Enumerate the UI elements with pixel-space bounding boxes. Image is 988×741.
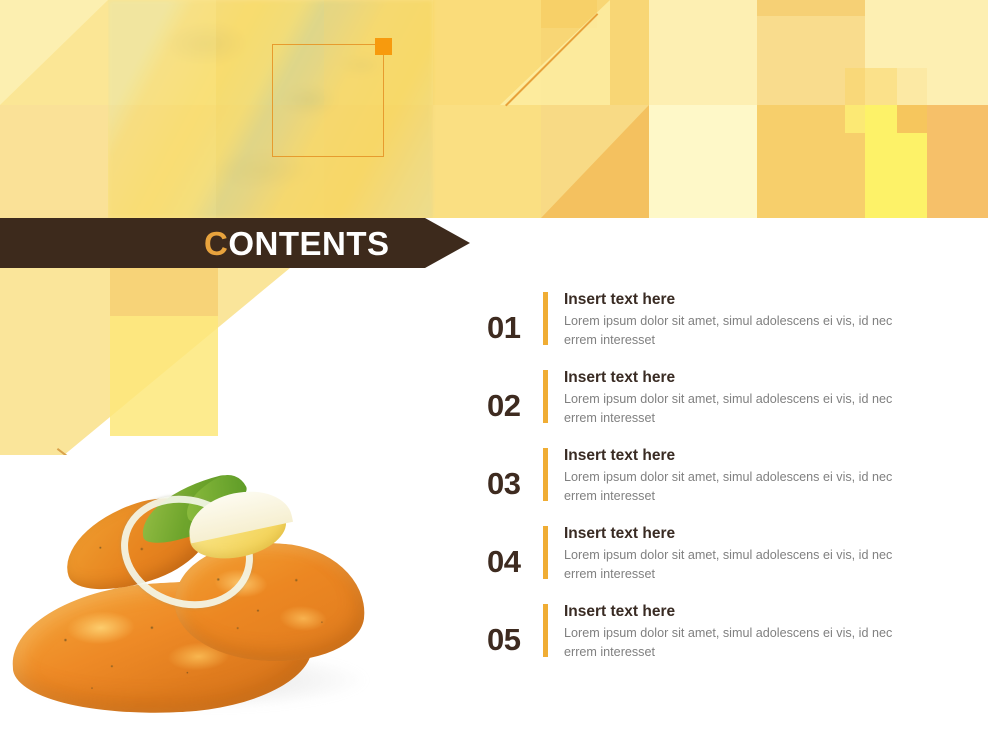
mosaic-tile <box>433 105 541 218</box>
left-square-lower <box>110 316 218 436</box>
mosaic-tile <box>649 105 757 218</box>
mosaic-tile <box>757 0 865 16</box>
mosaic-tile <box>927 105 988 218</box>
list-item-description: Lorem ipsum dolor sit amet, simul adoles… <box>564 390 894 428</box>
slide-canvas: CONTENTS 01 Insert text here Lorem ipsum… <box>0 0 988 741</box>
list-item-accent-bar <box>543 526 548 579</box>
list-item-accent-bar <box>543 448 548 501</box>
mosaic-tile <box>897 105 927 133</box>
list-item-text: Insert text here Lorem ipsum dolor sit a… <box>564 368 917 428</box>
mosaic-tile <box>649 0 757 105</box>
top-mosaic-band <box>0 0 988 218</box>
list-item-accent-bar <box>543 292 548 345</box>
list-item-number: 05 <box>487 602 543 655</box>
mosaic-tile <box>0 105 108 218</box>
list-item-number: 02 <box>487 368 543 421</box>
list-item-title: Insert text here <box>564 446 917 465</box>
list-item-number: 01 <box>487 290 543 343</box>
list-item-title: Insert text here <box>564 602 917 621</box>
solid-square-marker <box>375 38 392 55</box>
list-item[interactable]: 05 Insert text here Lorem ipsum dolor si… <box>487 602 917 680</box>
page-title-rest: ONTENTS <box>228 225 389 262</box>
mosaic-tile <box>845 68 897 105</box>
list-item-text: Insert text here Lorem ipsum dolor sit a… <box>564 524 917 584</box>
list-item-description: Lorem ipsum dolor sit amet, simul adoles… <box>564 546 894 584</box>
left-square-upper <box>110 268 218 316</box>
list-item-title: Insert text here <box>564 524 917 543</box>
list-item-title: Insert text here <box>564 290 917 309</box>
list-item-text: Insert text here Lorem ipsum dolor sit a… <box>564 290 917 350</box>
mosaic-tile-overlay <box>108 105 216 218</box>
list-item-title: Insert text here <box>564 368 917 387</box>
contents-title-bar: CONTENTS <box>0 218 470 268</box>
list-item-accent-bar <box>543 604 548 657</box>
outline-square-marker <box>272 44 384 157</box>
list-item-text: Insert text here Lorem ipsum dolor sit a… <box>564 446 917 506</box>
list-item-description: Lorem ipsum dolor sit amet, simul adoles… <box>564 312 894 350</box>
food-photo <box>0 455 420 741</box>
list-item-number: 03 <box>487 446 543 499</box>
list-item-accent-bar <box>543 370 548 423</box>
mosaic-tile-overlay <box>108 0 216 105</box>
list-item-text: Insert text here Lorem ipsum dolor sit a… <box>564 602 917 662</box>
list-item[interactable]: 01 Insert text here Lorem ipsum dolor si… <box>487 290 917 368</box>
page-title: CONTENTS <box>204 227 390 260</box>
contents-list: 01 Insert text here Lorem ipsum dolor si… <box>487 290 917 680</box>
page-title-accent-letter: C <box>204 225 228 262</box>
list-item-number: 04 <box>487 524 543 577</box>
list-item[interactable]: 03 Insert text here Lorem ipsum dolor si… <box>487 446 917 524</box>
mosaic-tile <box>897 68 927 105</box>
list-item-description: Lorem ipsum dolor sit amet, simul adoles… <box>564 624 894 662</box>
list-item[interactable]: 02 Insert text here Lorem ipsum dolor si… <box>487 368 917 446</box>
list-item[interactable]: 04 Insert text here Lorem ipsum dolor si… <box>487 524 917 602</box>
list-item-description: Lorem ipsum dolor sit amet, simul adoles… <box>564 468 894 506</box>
